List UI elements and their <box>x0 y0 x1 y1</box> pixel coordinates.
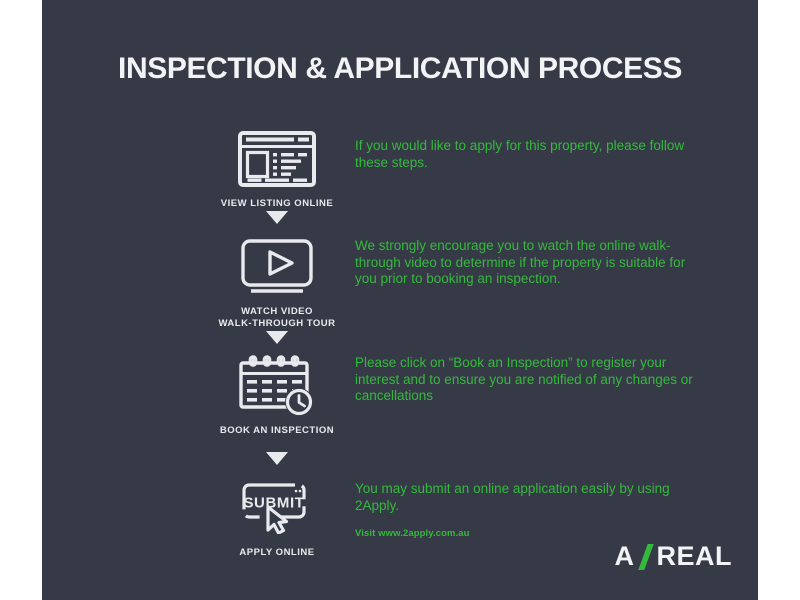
calendar-clock-icon <box>172 355 382 417</box>
step-3-description: Please click on “Book an Inspection” to … <box>355 355 705 405</box>
step-2-icon-column: WATCH VIDEO WALK-THROUGH TOUR <box>172 236 382 330</box>
apply-link[interactable]: Visit www.2apply.com.au <box>355 528 705 540</box>
submit-button-cursor-icon: SUBMIT <box>172 477 382 539</box>
step-4-label: APPLY ONLINE <box>172 547 382 559</box>
chevron-down-icon <box>266 211 288 224</box>
listing-window-icon <box>172 128 382 190</box>
step-1-description: If you would like to apply for this prop… <box>355 138 705 171</box>
arrow-connector-1 <box>172 211 382 224</box>
step-2-label-line1: WATCH VIDEO <box>172 306 382 318</box>
slide-panel: INSPECTION & APPLICATION PROCESS <box>42 0 758 600</box>
step-1-icon-column: VIEW LISTING ONLINE <box>172 128 382 210</box>
page-title: INSPECTION & APPLICATION PROCESS <box>42 52 758 86</box>
submit-icon-text: SUBMIT <box>243 495 304 512</box>
step-3-label: BOOK AN INSPECTION <box>172 425 382 437</box>
chevron-down-icon <box>266 331 288 344</box>
step-1-label: VIEW LISTING ONLINE <box>172 198 382 210</box>
step-3-icon-column: BOOK AN INSPECTION <box>172 355 382 437</box>
step-2-label-line2: WALK-THROUGH TOUR <box>172 318 382 330</box>
slide-canvas: INSPECTION & APPLICATION PROCESS <box>0 0 800 600</box>
logo-slash-icon <box>639 544 654 570</box>
logo-letter-a: A <box>615 541 635 572</box>
brand-logo: A REAL <box>615 541 733 572</box>
step-4-description: You may submit an online application eas… <box>355 481 705 514</box>
step-4-icon-column: SUBMIT APPLY ONLINE <box>172 477 382 559</box>
arrow-connector-2 <box>172 331 382 344</box>
step-2-description: We strongly encourage you to watch the o… <box>355 238 705 288</box>
video-monitor-play-icon <box>172 236 382 298</box>
chevron-down-icon <box>266 452 288 465</box>
step-2-label: WATCH VIDEO WALK-THROUGH TOUR <box>172 306 382 330</box>
arrow-connector-3 <box>172 452 382 465</box>
logo-word-real: REAL <box>657 541 733 572</box>
